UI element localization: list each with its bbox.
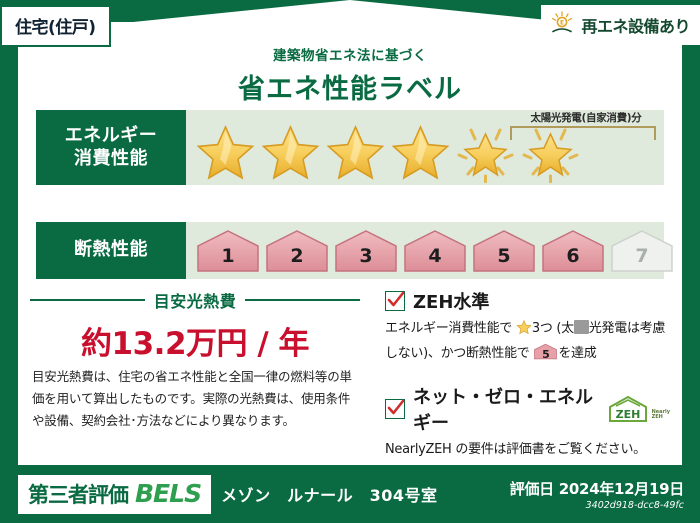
utility-cost-note: 目安光熱費は、住宅の省エネ性能と全国一律の燃料等の単価を用いて算出したものです。… — [32, 366, 362, 432]
building-type-tag: 住宅(住戸) — [0, 5, 111, 47]
renewable-equipment-badge: E 再エネ設備あり — [541, 5, 700, 45]
star-icon — [389, 121, 452, 183]
svg-text:ZEH: ZEH — [615, 408, 640, 421]
insulation-level-number: 6 — [539, 245, 607, 267]
insulation-level-house: 4 — [401, 228, 469, 274]
insulation-performance-row: 断熱性能 1 2 3 4 — [36, 222, 664, 279]
insulation-level-house: 5 — [470, 228, 538, 274]
zeh-standard-title: ZEH水準 — [413, 288, 489, 314]
energy-performance-row: エネルギー 消費性能 太陽光発電(自家消費)分 — [36, 110, 664, 185]
insulation-level-number: 3 — [332, 245, 400, 267]
solar-caption: 太陽光発電(自家消費)分 — [486, 110, 686, 125]
insulation-level-area: 1 2 3 4 5 — [186, 222, 664, 279]
svg-text:E: E — [560, 20, 564, 27]
title-block: 建築物省エネ法に基づく 省エネ性能ラベル — [0, 44, 700, 106]
insulation-level-number: 5 — [470, 245, 538, 267]
star-icon-solar — [454, 121, 517, 183]
insulation-level-house: 3 — [332, 228, 400, 274]
utility-cost-value: 約13.2万円 / 年 — [30, 318, 360, 363]
star-icon — [259, 121, 322, 183]
insulation-level-number: 1 — [194, 245, 262, 267]
sun-icon: E — [549, 10, 575, 40]
bels-jp-label: 第三者評価 — [28, 479, 128, 509]
solar-bracket — [510, 126, 656, 140]
insulation-level-number: 2 — [263, 245, 331, 267]
redaction-block — [574, 320, 589, 334]
zeh-netzero-line: ネット・ゼロ・エネルギー ZEH Nearly ZEH — [385, 383, 670, 435]
utility-cost-heading: 目安光熱費 — [30, 288, 360, 312]
bels-chip: 第三者評価 BELS — [18, 475, 211, 514]
rule-left — [30, 299, 145, 301]
checkbox-checked-icon — [385, 399, 405, 419]
building-name: メゾン ルナール 304号室 — [221, 482, 437, 506]
zeh-desc-part2: 3つ (太 — [532, 321, 574, 336]
zeh-desc-part4: を達成 — [558, 346, 596, 361]
title-subtitle: 建築物省エネ法に基づく — [0, 44, 700, 64]
energy-performance-label: エネルギー 消費性能 — [36, 110, 186, 185]
utility-cost-block: 目安光熱費 約13.2万円 / 年 — [30, 288, 360, 363]
page-title: 省エネ性能ラベル — [0, 67, 700, 106]
evaluation-date: 評価日 2024年12月19日 — [510, 478, 684, 499]
zeh-standard-description: エネルギー消費性能で 3つ (太光発電は考慮しない)、かつ断熱性能で 5 を達成 — [385, 319, 670, 365]
inline-star-icon — [516, 319, 532, 343]
zeh-netzero-description: NearlyZEH の要件は評価書をご覧ください。 — [385, 440, 670, 461]
insulation-level-house: 1 — [194, 228, 262, 274]
energy-star-area: 太陽光発電(自家消費)分 — [186, 110, 664, 185]
insulation-level-house-inactive: 7 — [608, 228, 676, 274]
insulation-level-number: 7 — [608, 245, 676, 267]
zeh-block: ZEH水準 エネルギー消費性能で 3つ (太光発電は考慮しない)、かつ断熱性能で… — [385, 288, 670, 460]
footer-bar: 第三者評価 BELS メゾン ルナール 304号室 評価日 2024年12月19… — [0, 465, 700, 523]
insulation-level-house: 2 — [263, 228, 331, 274]
insulation-performance-label: 断熱性能 — [36, 222, 186, 279]
insulation-level-number: 4 — [401, 245, 469, 267]
renewable-badge-label: 再エネ設備あり — [581, 13, 690, 37]
evaluation-id: 3402d918-dcc8-49fc — [510, 500, 684, 511]
checkbox-checked-icon — [385, 291, 405, 311]
inline-insulation-level: 5 — [533, 346, 558, 364]
insulation-level-house: 6 — [539, 228, 607, 274]
insulation-level-scale: 1 2 3 4 5 — [194, 228, 676, 274]
energy-performance-label: 住宅(住戸) E 再エネ設備あり 建築物省エネ法に基づく 省エネ性能ラベル — [0, 0, 700, 523]
star-icon — [194, 121, 257, 183]
zeh-netzero-title: ネット・ゼロ・エネルギー — [413, 383, 594, 435]
zeh-logo: ZEH Nearly ZEH — [606, 394, 670, 424]
star-icon — [324, 121, 387, 183]
bels-en-label: BELS — [135, 479, 201, 508]
zeh-house-logo-icon: ZEH — [606, 394, 650, 424]
zeh-logo-subtext: Nearly ZEH — [652, 410, 670, 424]
inline-insulation-badge: 5 — [533, 343, 558, 360]
zeh-desc-part1: エネルギー消費性能で — [385, 321, 512, 336]
zeh-standard-line: ZEH水準 — [385, 288, 670, 314]
utility-cost-heading-text: 目安光熱費 — [154, 288, 237, 312]
footer-meta: 評価日 2024年12月19日 3402d918-dcc8-49fc — [510, 478, 684, 511]
rule-right — [245, 299, 360, 301]
